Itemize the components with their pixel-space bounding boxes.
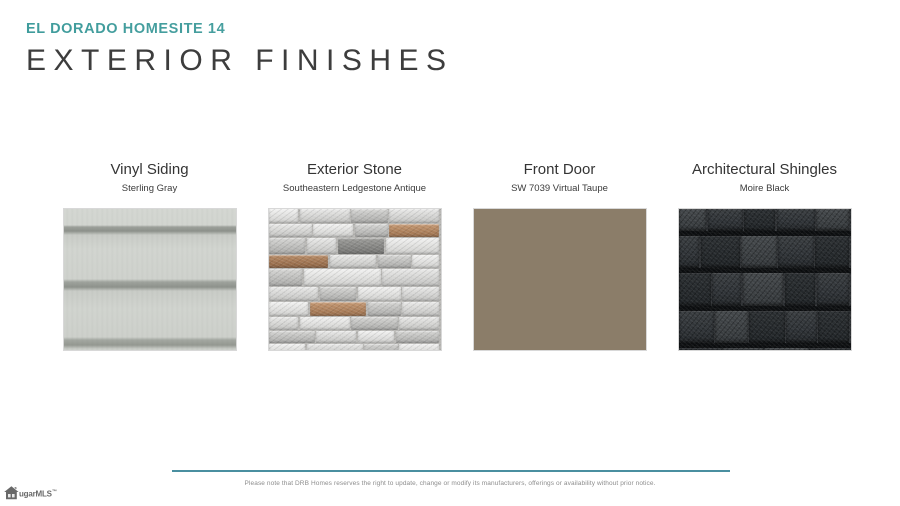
finish-name: Exterior Stone xyxy=(307,160,402,179)
swatch-front-door xyxy=(473,208,647,351)
finish-name: Vinyl Siding xyxy=(110,160,188,179)
finish-name: Architectural Shingles xyxy=(692,160,837,179)
house-icon xyxy=(3,485,20,501)
finish-selection: Moire Black xyxy=(740,183,790,195)
page-header: EL DORADO HOMESITE 14 EXTERIOR FINISHES xyxy=(26,20,726,79)
swatch-architectural-shingles xyxy=(678,208,852,351)
finish-name: Front Door xyxy=(524,160,596,179)
finish-card-architectural-shingles: Architectural Shingles Moire Black xyxy=(662,160,867,351)
swatch-exterior-stone xyxy=(268,208,442,351)
mls-watermark: ugarMLS™ xyxy=(3,485,57,501)
footer-divider xyxy=(172,470,730,472)
finish-card-vinyl-siding: Vinyl Siding Sterling Gray xyxy=(47,160,252,351)
finish-selection: Sterling Gray xyxy=(122,183,177,195)
swatch-vinyl-siding xyxy=(63,208,237,351)
finish-selection: SW 7039 Virtual Taupe xyxy=(511,183,608,195)
finish-card-front-door: Front Door SW 7039 Virtual Taupe xyxy=(457,160,662,351)
homesite-eyebrow: EL DORADO HOMESITE 14 xyxy=(26,20,726,38)
trademark-symbol: ™ xyxy=(52,489,57,495)
page-title: EXTERIOR FINISHES xyxy=(26,43,726,79)
mls-label: ugarMLS™ xyxy=(19,487,57,500)
disclaimer-text: Please note that DRB Homes reserves the … xyxy=(0,479,900,489)
finish-card-exterior-stone: Exterior Stone Southeastern Ledgestone A… xyxy=(252,160,457,351)
finish-selection: Southeastern Ledgestone Antique xyxy=(283,183,426,195)
finishes-grid: Vinyl Siding Sterling Gray Exterior Ston… xyxy=(0,160,900,351)
